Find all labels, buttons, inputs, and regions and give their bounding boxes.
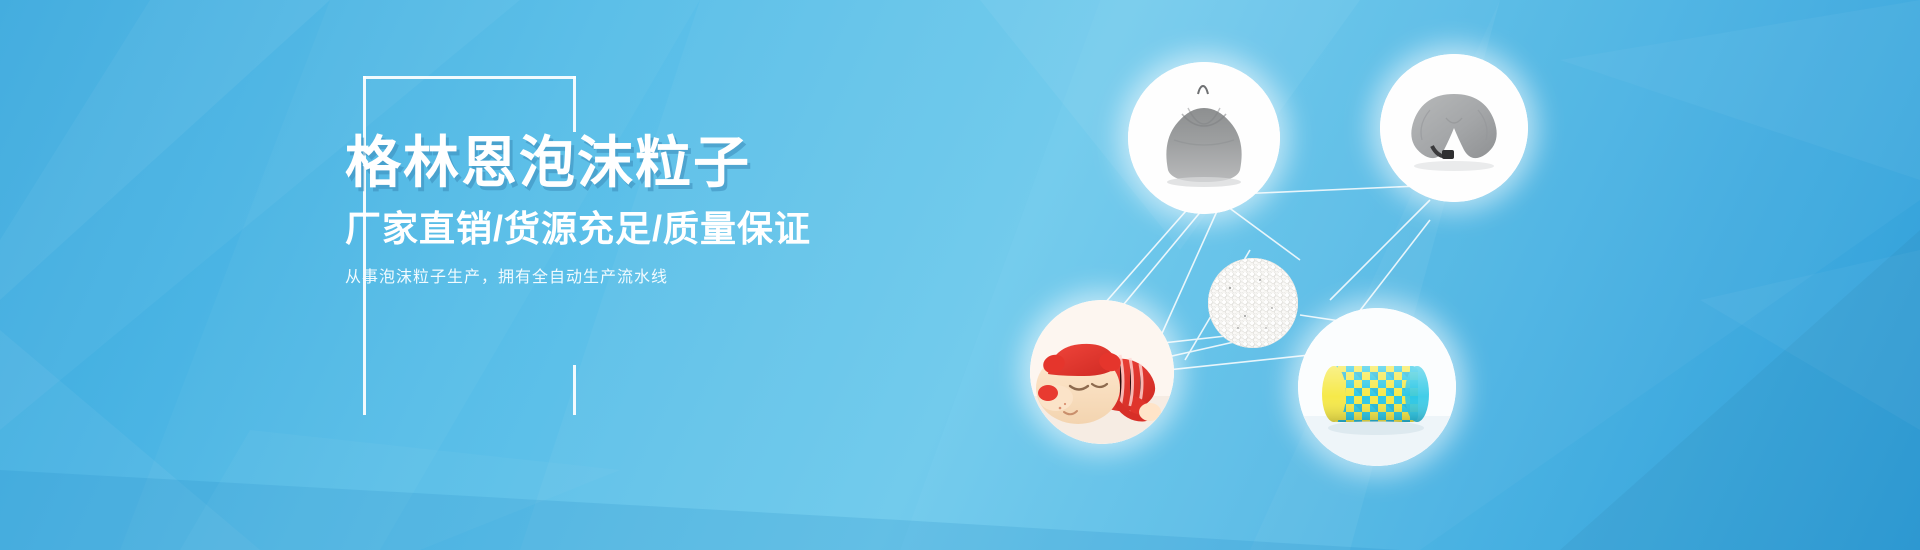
product-image-neck-pillow (1380, 54, 1528, 202)
beads-icon (1208, 258, 1298, 348)
product-bubble-foam-beads[interactable] (1208, 258, 1298, 348)
product-bubble-neck-pillow[interactable] (1380, 54, 1528, 202)
product-bubble-plush-toy[interactable] (1030, 300, 1174, 444)
plush-toy-icon (1030, 300, 1174, 444)
product-image-roll-pillow (1298, 308, 1456, 466)
product-bubble-roll-pillow[interactable] (1298, 308, 1456, 466)
product-network (0, 0, 1920, 550)
promo-banner: 格林恩泡沫粒子 厂家直销/货源充足/质量保证 从事泡沫粒子生产，拥有全自动生产流… (0, 0, 1920, 550)
product-image-plush-toy (1030, 300, 1174, 444)
roll-pillow-icon (1298, 308, 1456, 466)
network-connector-lines (0, 0, 1920, 550)
beanbag-icon (1128, 62, 1280, 214)
neckpillow-icon (1380, 54, 1528, 202)
product-image-bean-bag-chair (1128, 62, 1280, 214)
product-bubble-bean-bag-chair[interactable] (1128, 62, 1280, 214)
